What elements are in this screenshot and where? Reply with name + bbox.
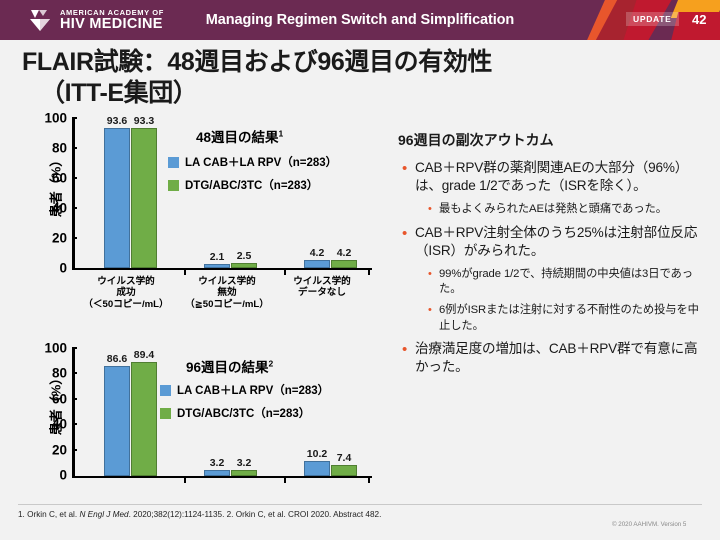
y-tick-0-c2: 0 (59, 468, 72, 483)
y-tick-mark-60 (72, 177, 77, 179)
bullet-item: • CAB＋RPV注射全体のうち25%は注射部位反応（ISR）がみられた。 (398, 224, 710, 260)
chart-week48-y-axis (72, 118, 75, 270)
secondary-outcomes-heading: 96週目の副次アウトカム (398, 130, 710, 150)
y-tick-100: 100 (44, 111, 72, 126)
aahivm-logo-text: AMERICAN ACADEMY OF HIV MEDICINE (60, 9, 164, 32)
x-category-label-3: ウイルス学的 データなし (272, 276, 372, 299)
bullet-item: • 6例がISRまたは注射に対する不耐性のため投与を中止した。 (398, 303, 710, 334)
y-tick-mark-100-c2 (72, 347, 77, 349)
bar-value-blue-c2-g1: 86.6 (107, 353, 127, 365)
chart-week48-x-axis (72, 268, 372, 271)
y-tick-80: 80 (52, 141, 72, 156)
chart-week48: 48週目の結果1 LA CAB＋LA RPV（n=283） DTG/ABC/3T… (20, 118, 382, 318)
chart-week96-x-axis (72, 476, 372, 479)
y-tick-mark-20-c2 (72, 449, 77, 451)
bullet-text: 最もよくみられたAEは発熱と頭痛であった。 (439, 202, 667, 217)
x-category-label-2: ウイルス学的 無効 （≧50コピー/mL） (166, 276, 288, 310)
bullet-text: 6例がISRまたは注射に対する不耐性のため投与を中止した。 (439, 303, 710, 334)
bullet-dot-icon: • (402, 224, 415, 260)
bar-value-blue-g1: 93.6 (107, 115, 127, 127)
bullet-dot-icon: • (428, 267, 439, 298)
footnote-references: 1. Orkin C, et al. N Engl J Med. 2020;38… (18, 510, 381, 519)
chart-week96-y-axis (72, 348, 75, 478)
logo-line-2: HIV MEDICINE (60, 17, 164, 32)
aahivm-logo-icon (28, 7, 54, 33)
y-tick-20: 20 (52, 231, 72, 246)
y-tick-mark-40 (72, 207, 77, 209)
bar-group-c2-2: 3.2 3.2 (204, 470, 257, 476)
y-tick-20-c2: 20 (52, 442, 72, 457)
bar-value-green-c2-g2: 3.2 (237, 457, 252, 469)
bar-blue-g1: 93.6 (104, 128, 130, 268)
update-badge: UPDATE (626, 12, 679, 26)
bar-value-blue-c2-g2: 3.2 (210, 457, 225, 469)
bullet-text: CAB＋RPV群の薬剤関連AEの大部分（96%）は、grade 1/2であった（… (415, 159, 710, 195)
y-tick-mark-80-c2 (72, 372, 77, 374)
bullet-text: CAB＋RPV注射全体のうち25%は注射部位反応（ISR）がみられた。 (415, 224, 710, 260)
chart-week96: 96週目の結果2 LA CAB＋LA RPV（n=283） DTG/ABC/3T… (20, 348, 382, 510)
bar-blue-c2-g3: 10.2 (304, 461, 330, 476)
bullet-item: • 治療満足度の増加は、CAB＋RPV群で有意に高かった。 (398, 340, 710, 376)
footnote-ref1-journal: N Engl J Med (79, 510, 128, 519)
page-title-line-2: （ITT-E集団） (22, 78, 662, 109)
copyright-notice: © 2020 AAHIVM. Version 5 (612, 521, 686, 528)
slide-header: Managing Regimen Switch and Simplificati… (0, 0, 720, 40)
y-tick-mark-100 (72, 117, 77, 119)
bar-blue-c2-g1: 86.6 (104, 366, 130, 476)
bar-value-blue-c2-g3: 10.2 (307, 448, 327, 460)
bar-group-virologic-success: 93.6 93.3 (104, 128, 157, 268)
x-tick-mark-c2-1 (184, 478, 186, 483)
y-tick-100-c2: 100 (44, 341, 72, 356)
bar-value-green-g1: 93.3 (134, 115, 154, 127)
bullet-dot-icon: • (402, 159, 415, 195)
bar-group-virologic-failure: 2.1 2.5 (204, 263, 257, 268)
bar-group-no-virologic-data: 4.2 4.2 (304, 260, 357, 268)
bullet-dot-icon: • (428, 303, 439, 334)
page-title-line-1: FLAIR試験：48週目および96週目の有効性 (22, 48, 492, 76)
slide-number: 42 (692, 12, 706, 27)
bar-value-blue-g3: 4.2 (310, 247, 325, 259)
bar-value-green-c2-g1: 89.4 (134, 349, 154, 361)
page-title: FLAIR試験：48週目および96週目の有効性 （ITT-E集団） (22, 47, 662, 108)
bar-value-green-g2: 2.5 (237, 250, 252, 262)
y-tick-mark-20 (72, 237, 77, 239)
bullet-text: 治療満足度の増加は、CAB＋RPV群で有意に高かった。 (415, 340, 710, 376)
y-tick-mark-60-c2 (72, 398, 77, 400)
y-tick-40-c2: 40 (52, 417, 72, 432)
x-tick-mark-c2-2 (284, 478, 286, 483)
bar-green-g2: 2.5 (231, 263, 257, 268)
y-tick-40: 40 (52, 201, 72, 216)
bar-blue-c2-g2: 3.2 (204, 470, 230, 476)
y-tick-80-c2: 80 (52, 366, 72, 381)
y-tick-mark-80 (72, 147, 77, 149)
bullet-item: • 99%がgrade 1/2で、持続期間の中央値は3日であった。 (398, 267, 710, 298)
bar-green-c2-g2: 3.2 (231, 470, 257, 476)
chart-week96-plot: 患者（%） 100 80 60 40 20 0 86.6 89.4 (72, 348, 372, 478)
bar-green-g3: 4.2 (331, 260, 357, 268)
bar-green-c2-g1: 89.4 (131, 362, 157, 476)
y-tick-60-c2: 60 (52, 391, 72, 406)
bar-blue-g3: 4.2 (304, 260, 330, 268)
bullet-text: 99%がgrade 1/2で、持続期間の中央値は3日であった。 (439, 267, 710, 298)
bar-value-green-c2-g3: 7.4 (337, 452, 352, 464)
bullet-dot-icon: • (428, 202, 439, 217)
bar-value-green-g3: 4.2 (337, 247, 352, 259)
footnote-ref1-prefix: 1. Orkin C, et al. (18, 510, 79, 519)
footer-divider (18, 504, 702, 505)
bar-green-g1: 93.3 (131, 128, 157, 268)
slide-root: Managing Regimen Switch and Simplificati… (0, 0, 720, 540)
bar-group-c2-3: 10.2 7.4 (304, 461, 357, 476)
chart-week48-plot: 患者（%） 100 80 60 40 20 0 93.6 93.3 (72, 118, 372, 270)
logo-line-1: AMERICAN ACADEMY OF (60, 9, 164, 17)
bullet-item: • CAB＋RPV群の薬剤関連AEの大部分（96%）は、grade 1/2であっ… (398, 159, 710, 195)
y-tick-0: 0 (59, 261, 72, 276)
secondary-outcomes-panel: 96週目の副次アウトカム • CAB＋RPV群の薬剤関連AEの大部分（96%）は… (398, 130, 710, 383)
bullet-item: • 最もよくみられたAEは発熱と頭痛であった。 (398, 202, 710, 217)
x-tick-mark-1 (184, 270, 186, 275)
bullet-dot-icon: • (402, 340, 415, 376)
x-tick-mark-2 (284, 270, 286, 275)
x-tick-mark-c2-3 (368, 478, 370, 483)
y-tick-60: 60 (52, 171, 72, 186)
x-tick-mark-3 (368, 270, 370, 275)
bar-green-c2-g3: 7.4 (331, 465, 357, 476)
aahivm-logo: AMERICAN ACADEMY OF HIV MEDICINE (28, 7, 164, 33)
bar-blue-g2: 2.1 (204, 264, 230, 268)
y-tick-mark-40-c2 (72, 423, 77, 425)
footnote-ref2: 2. Orkin C, et al. CROI 2020. Abstract 4… (227, 510, 382, 519)
bar-group-c2-1: 86.6 89.4 (104, 362, 157, 476)
footnote-ref1-suffix: . 2020;382(12):1124-1135. (129, 510, 227, 519)
bar-value-blue-g2: 2.1 (210, 251, 225, 263)
